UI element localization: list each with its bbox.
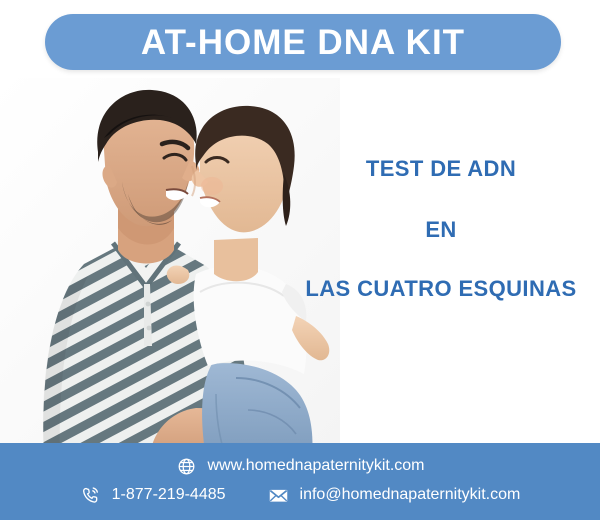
headline-line-1: TEST DE ADN	[286, 158, 596, 180]
page-title: AT-HOME DNA KIT	[141, 25, 465, 60]
footer-notch	[0, 443, 276, 455]
email-contact[interactable]: info@homednapaternitykit.com	[268, 484, 521, 506]
headline-line-2: EN	[286, 219, 596, 241]
headline-block: TEST DE ADN EN LAS CUATRO ESQUINAS	[286, 158, 596, 300]
header-banner: AT-HOME DNA KIT	[45, 14, 561, 70]
phone-contact[interactable]: 1-877-219-4485	[80, 484, 226, 506]
email-text: info@homednapaternitykit.com	[300, 487, 521, 503]
envelope-icon	[268, 484, 290, 506]
website-contact[interactable]: www.homednapaternitykit.com	[176, 455, 425, 477]
footer-row-phone-email: 1-877-219-4485 info@homednapaternitykit.…	[0, 484, 600, 506]
footer-row-website: www.homednapaternitykit.com	[0, 455, 600, 477]
promo-card: AT-HOME DNA KIT	[0, 0, 600, 520]
phone-icon	[80, 484, 102, 506]
globe-icon	[176, 455, 198, 477]
website-text: www.homednapaternitykit.com	[208, 458, 425, 474]
headline-line-3: LAS CUATRO ESQUINAS	[286, 278, 596, 300]
phone-text: 1-877-219-4485	[112, 487, 226, 503]
